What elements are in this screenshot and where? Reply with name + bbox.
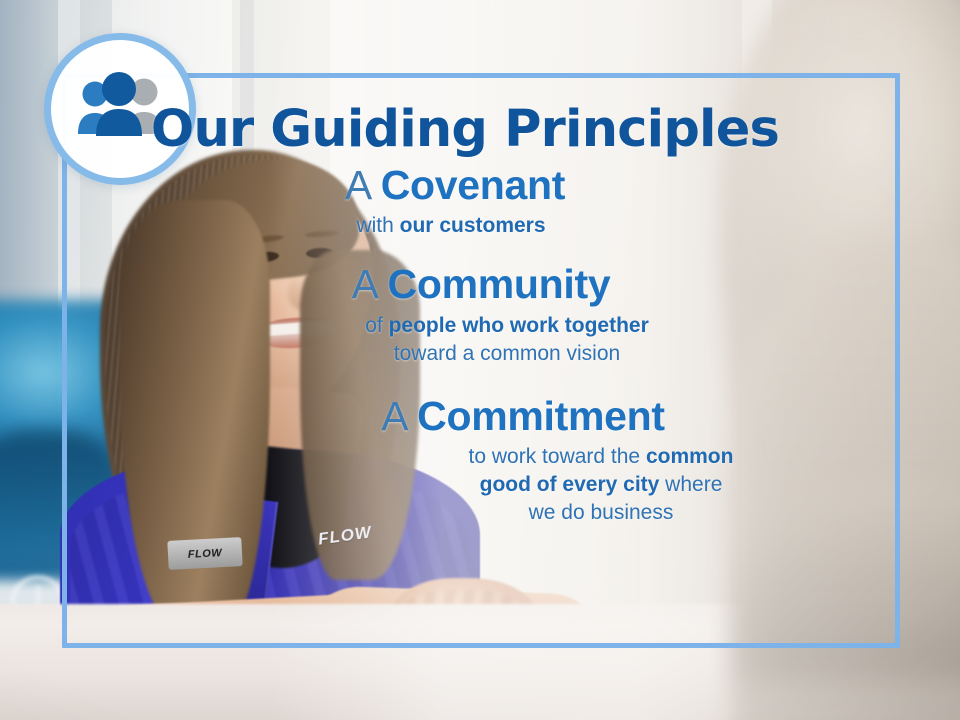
principle-description-line: we do business (198, 499, 960, 527)
principles-content: Our Guiding Principles A Covenantwith ou… (62, 73, 900, 648)
emphasis-text: people who work together (389, 314, 649, 337)
emphasis-text: our customers (400, 214, 546, 237)
principle-description: of people who work togethertoward a comm… (104, 312, 910, 368)
plain-text: of (365, 314, 388, 337)
plain-text: with (356, 214, 399, 237)
principle-article: A (352, 261, 388, 307)
principle-title: A Community (78, 262, 884, 306)
principle-description-line: of people who work together (104, 312, 910, 340)
principle-2: A Communityof people who work togetherto… (78, 262, 884, 368)
emphasis-text: good of every city (480, 473, 660, 496)
principle-keyword: Commitment (417, 393, 665, 439)
principle-title: A Covenant (52, 163, 858, 207)
plain-text: we do business (529, 501, 674, 524)
principle-article: A (381, 393, 417, 439)
principle-description-line: toward a common vision (104, 340, 910, 368)
principle-keyword: Community (388, 261, 611, 307)
principle-description: with our customers (48, 212, 854, 240)
principle-title: A Commitment (120, 394, 926, 438)
principle-description-line: good of every city where (198, 471, 960, 499)
emphasis-text: common (646, 445, 734, 468)
principle-keyword: Covenant (381, 162, 565, 208)
principle-1: A Covenantwith our customers (52, 163, 858, 240)
principle-description: to work toward the commongood of every c… (198, 443, 960, 527)
principle-description-line: with our customers (48, 212, 854, 240)
plain-text: toward a common vision (394, 342, 620, 365)
principles-list: A Covenantwith our customersA Communityo… (62, 163, 868, 528)
principle-article: A (345, 162, 381, 208)
page-title: Our Guiding Principles (62, 103, 868, 157)
plain-text: where (659, 473, 722, 496)
plain-text: to work toward the (469, 445, 646, 468)
principle-description-line: to work toward the common (198, 443, 960, 471)
principle-3: A Commitmentto work toward the commongoo… (120, 394, 926, 528)
guiding-principles-graphic: FLOW FLOW Our (0, 0, 960, 720)
